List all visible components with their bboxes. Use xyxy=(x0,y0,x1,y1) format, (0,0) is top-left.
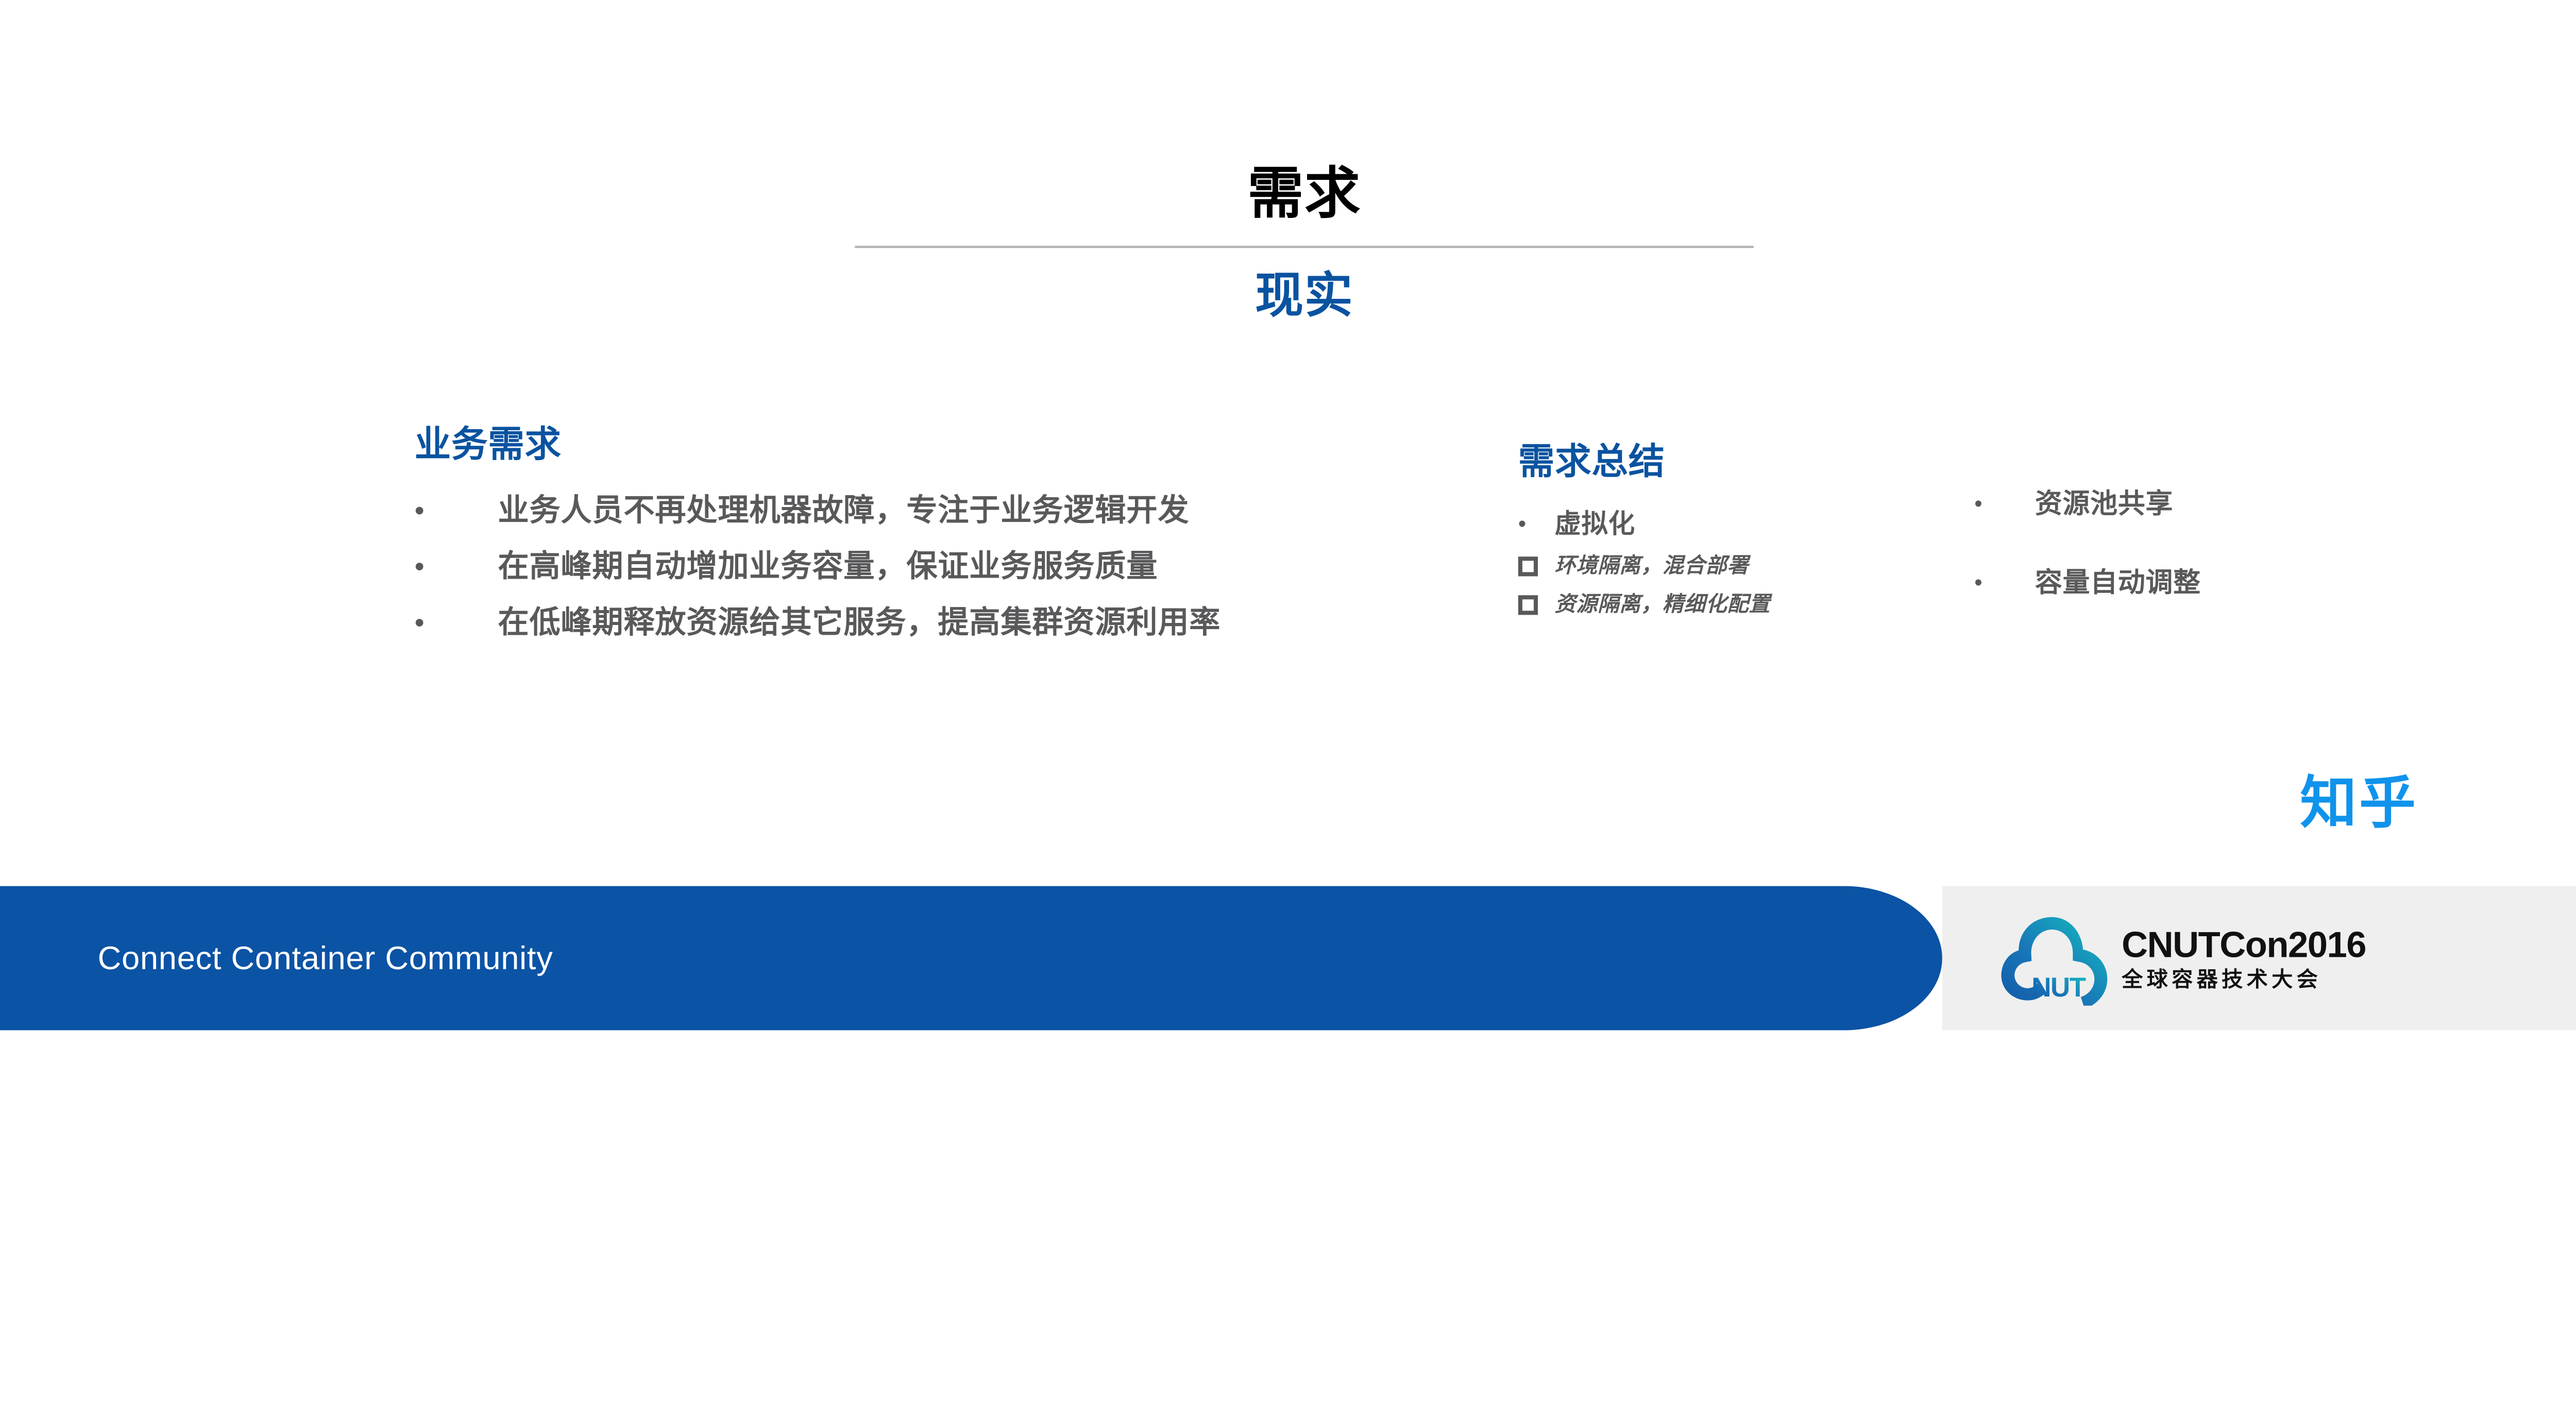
list-item-label: 在低峰期释放资源给其它服务，提高集群资源利用率 xyxy=(498,606,1221,638)
list-item: • 虚拟化 xyxy=(1518,509,1770,538)
business-requirements-column: 业务需求 • 业务人员不再处理机器故障，专注于业务逻辑开发 • 在高峰期自动增加… xyxy=(415,424,1221,638)
bullet-dot-icon: • xyxy=(415,550,498,582)
slide-footer: Connect Container Community NUT CNUTCon2… xyxy=(0,886,2576,1031)
requirements-summary-heading: 需求总结 xyxy=(1518,441,1770,482)
bullet-dot-icon: • xyxy=(1974,567,2035,598)
hollow-square-glyph xyxy=(1518,556,1538,576)
summary-benefits-list: • 资源池共享 • 容量自动调整 xyxy=(1974,488,2200,598)
list-item-label: 容量自动调整 xyxy=(2035,567,2201,598)
list-item: • 在低峰期释放资源给其它服务，提高集群资源利用率 xyxy=(415,606,1221,638)
title-block: 需求 现实 xyxy=(855,163,1754,323)
list-item: • 在高峰期自动增加业务容量，保证业务服务质量 xyxy=(415,550,1221,582)
conference-subtitle: 全球容器技术大会 xyxy=(2122,968,2366,989)
bullet-square-icon xyxy=(1518,553,1555,579)
requirements-summary-column: 需求总结 • 虚拟化 环境隔离，混合部署 资源隔离，精细化配置 xyxy=(1518,441,1770,617)
list-item: • 容量自动调整 xyxy=(1974,567,2200,598)
svg-text:NUT: NUT xyxy=(2031,972,2086,1003)
business-requirements-list: • 业务人员不再处理机器故障，专注于业务逻辑开发 • 在高峰期自动增加业务容量，… xyxy=(415,494,1221,638)
cnut-cloud-icon: NUT xyxy=(1995,911,2109,1006)
requirements-summary-list: • 虚拟化 环境隔离，混合部署 资源隔离，精细化配置 xyxy=(1518,509,1770,617)
bullet-dot-icon: • xyxy=(1974,488,2035,519)
list-item: 环境隔离，混合部署 xyxy=(1518,553,1770,579)
list-item: 资源隔离，精细化配置 xyxy=(1518,592,1770,617)
list-item-label: 资源隔离，精细化配置 xyxy=(1554,592,1770,616)
conference-logo-panel: NUT CNUTCon2016 全球容器技术大会 xyxy=(1942,886,2576,1031)
list-item-label: 资源池共享 xyxy=(2035,488,2173,519)
slide-canvas: 需求 现实 业务需求 • 业务人员不再处理机器故障，专注于业务逻辑开发 • 在高… xyxy=(0,0,2576,1031)
list-item-label: 业务人员不再处理机器故障，专注于业务逻辑开发 xyxy=(498,494,1189,526)
summary-benefits-column: • 资源池共享 • 容量自动调整 xyxy=(1974,488,2200,598)
hollow-square-glyph xyxy=(1518,595,1538,615)
footer-tagline: Connect Container Community xyxy=(98,939,553,977)
business-requirements-heading: 业务需求 xyxy=(415,424,1221,465)
conference-name: CNUTCon2016 xyxy=(2122,927,2366,964)
page-subtitle: 现实 xyxy=(855,268,1754,323)
bullet-dot-icon: • xyxy=(415,606,498,638)
list-item-label: 在高峰期自动增加业务容量，保证业务服务质量 xyxy=(498,550,1158,582)
list-item-label: 虚拟化 xyxy=(1554,509,1635,538)
cnut-wordmark: CNUTCon2016 全球容器技术大会 xyxy=(2122,927,2366,990)
bullet-dot-icon: • xyxy=(415,494,498,526)
list-item: • 资源池共享 xyxy=(1974,488,2200,519)
bullet-square-icon xyxy=(1518,592,1555,617)
page-title: 需求 xyxy=(855,163,1754,225)
list-item: • 业务人员不再处理机器故障，专注于业务逻辑开发 xyxy=(415,494,1221,526)
list-item-label: 环境隔离，混合部署 xyxy=(1554,553,1749,577)
title-divider xyxy=(855,246,1754,248)
zhihu-logo: 知乎 xyxy=(2300,774,2418,831)
bullet-dot-icon: • xyxy=(1518,509,1555,538)
